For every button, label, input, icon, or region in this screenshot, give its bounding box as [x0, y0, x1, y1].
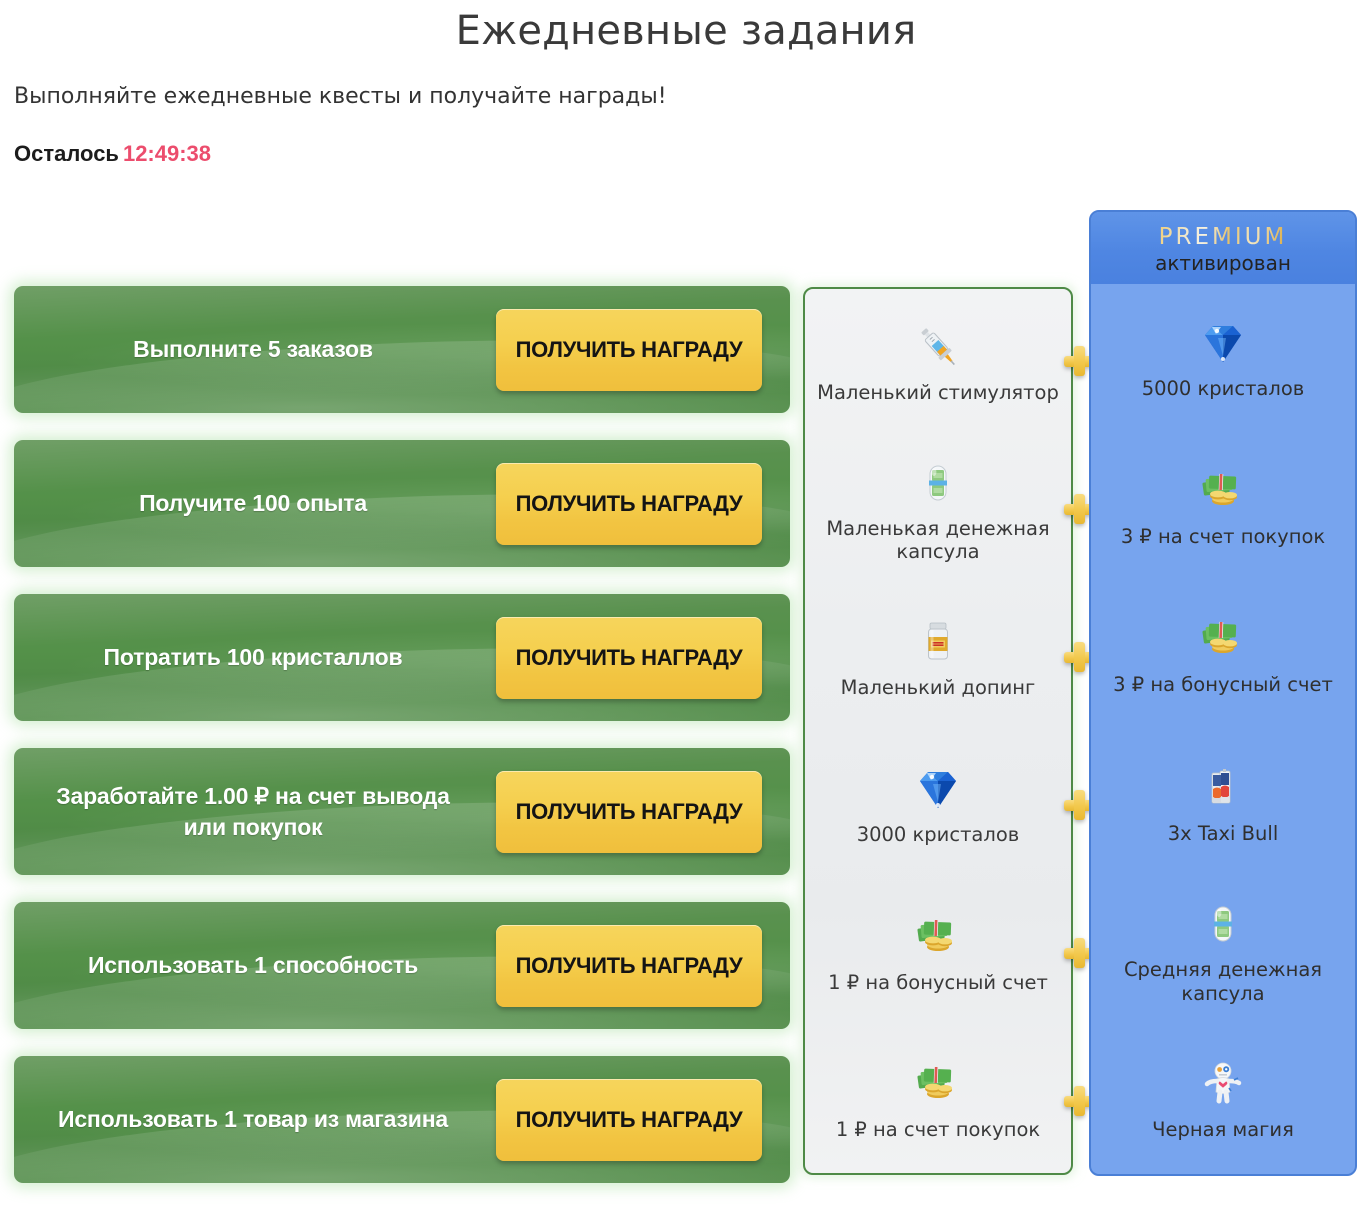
claim-reward-button[interactable]: ПОЛУЧИТЬ НАГРАДУ — [496, 617, 762, 699]
claim-reward-button[interactable]: ПОЛУЧИТЬ НАГРАДУ — [496, 925, 762, 1007]
task-label: Заработайте 1.00 ₽ на счет вывода или по… — [14, 781, 496, 842]
task-row[interactable]: Получите 100 опыта ПОЛУЧИТЬ НАГРАДУ — [14, 440, 790, 567]
doping-jar-icon — [911, 615, 965, 669]
premium-item-list: 5000 кристалов — [1091, 284, 1355, 1174]
money-stack-icon — [1196, 464, 1250, 518]
premium-label: 5000 кристалов — [1142, 377, 1305, 401]
claim-reward-button[interactable]: ПОЛУЧИТЬ НАГРАДУ — [496, 771, 762, 853]
task-row[interactable]: Выполните 5 заказов ПОЛУЧИТЬ НАГРАДУ — [14, 286, 790, 413]
premium-header: PREMIUM активирован — [1091, 212, 1355, 284]
premium-item: 5000 кристалов — [1091, 284, 1355, 432]
money-capsule-icon — [911, 456, 965, 510]
page-title: Ежедневные задания — [0, 8, 1372, 54]
reward-item: 1 ₽ на счет покупок — [805, 1026, 1071, 1173]
reward-label: Маленький стимулятор — [817, 381, 1059, 405]
premium-label: Средняя денежная капсула — [1099, 958, 1347, 1006]
money-capsule-icon — [1196, 897, 1250, 951]
premium-label: Черная магия — [1152, 1118, 1294, 1142]
voodoo-doll-icon — [1196, 1057, 1250, 1111]
task-row[interactable]: Использовать 1 способность ПОЛУЧИТЬ НАГР… — [14, 902, 790, 1029]
reward-item: Маленький допинг — [805, 584, 1071, 731]
task-label: Использовать 1 способность — [14, 950, 496, 980]
taxi-bull-icon — [1196, 761, 1250, 815]
reward-label: 1 ₽ на бонусный счет — [828, 971, 1048, 995]
base-rewards-column: Маленький стимулятор Маленькая денежная … — [803, 287, 1073, 1175]
task-row[interactable]: Использовать 1 товар из магазина ПОЛУЧИТ… — [14, 1056, 790, 1183]
claim-reward-button[interactable]: ПОЛУЧИТЬ НАГРАДУ — [496, 463, 762, 545]
reward-item: Маленькая денежная капсула — [805, 436, 1071, 583]
premium-rewards-column: PREMIUM активирован — [1089, 210, 1357, 1176]
page-subtitle: Выполняйте ежедневные квесты и получайте… — [14, 84, 1372, 109]
crystal-icon — [1196, 316, 1250, 370]
premium-label: 3 ₽ на бонусный счет — [1113, 673, 1333, 697]
premium-item: Черная магия — [1091, 1026, 1355, 1174]
task-row[interactable]: Заработайте 1.00 ₽ на счет вывода или по… — [14, 748, 790, 875]
money-stack-icon — [911, 910, 965, 964]
task-row[interactable]: Потратить 100 кристаллов ПОЛУЧИТЬ НАГРАД… — [14, 594, 790, 721]
daily-quests-board: Выполните 5 заказов ПОЛУЧИТЬ НАГРАДУ Пол… — [0, 204, 1372, 1200]
premium-item: 3 ₽ на счет покупок — [1091, 432, 1355, 580]
premium-label: 3x Taxi Bull — [1168, 822, 1279, 846]
premium-item: Средняя денежная капсула — [1091, 877, 1355, 1025]
reward-label: Маленькая денежная капсула — [815, 517, 1061, 565]
countdown-row: Осталось12:49:38 — [14, 141, 1372, 167]
task-label: Получите 100 опыта — [14, 488, 496, 518]
premium-title: PREMIUM — [1159, 224, 1288, 250]
premium-item: 3 ₽ на бонусный счет — [1091, 581, 1355, 729]
premium-status: активирован — [1155, 251, 1291, 275]
task-label: Выполните 5 заказов — [14, 334, 496, 364]
task-label: Потратить 100 кристаллов — [14, 642, 496, 672]
task-list: Выполните 5 заказов ПОЛУЧИТЬ НАГРАДУ Пол… — [14, 286, 790, 1210]
countdown-value: 12:49:38 — [123, 141, 211, 166]
claim-reward-button[interactable]: ПОЛУЧИТЬ НАГРАДУ — [496, 309, 762, 391]
reward-label: 3000 кристалов — [857, 823, 1020, 847]
reward-label: Маленький допинг — [841, 676, 1036, 700]
reward-item: Маленький стимулятор — [805, 289, 1071, 436]
syringe-icon — [911, 320, 965, 374]
money-stack-icon — [1196, 612, 1250, 666]
reward-label: 1 ₽ на счет покупок — [836, 1118, 1040, 1142]
money-stack-icon — [911, 1057, 965, 1111]
reward-item: 1 ₽ на бонусный счет — [805, 878, 1071, 1025]
task-label: Использовать 1 товар из магазина — [14, 1104, 496, 1134]
premium-label: 3 ₽ на счет покупок — [1121, 525, 1325, 549]
countdown-label: Осталось — [14, 141, 119, 166]
crystal-icon — [911, 762, 965, 816]
claim-reward-button[interactable]: ПОЛУЧИТЬ НАГРАДУ — [496, 1079, 762, 1161]
premium-item: 3x Taxi Bull — [1091, 729, 1355, 877]
reward-item: 3000 кристалов — [805, 731, 1071, 878]
